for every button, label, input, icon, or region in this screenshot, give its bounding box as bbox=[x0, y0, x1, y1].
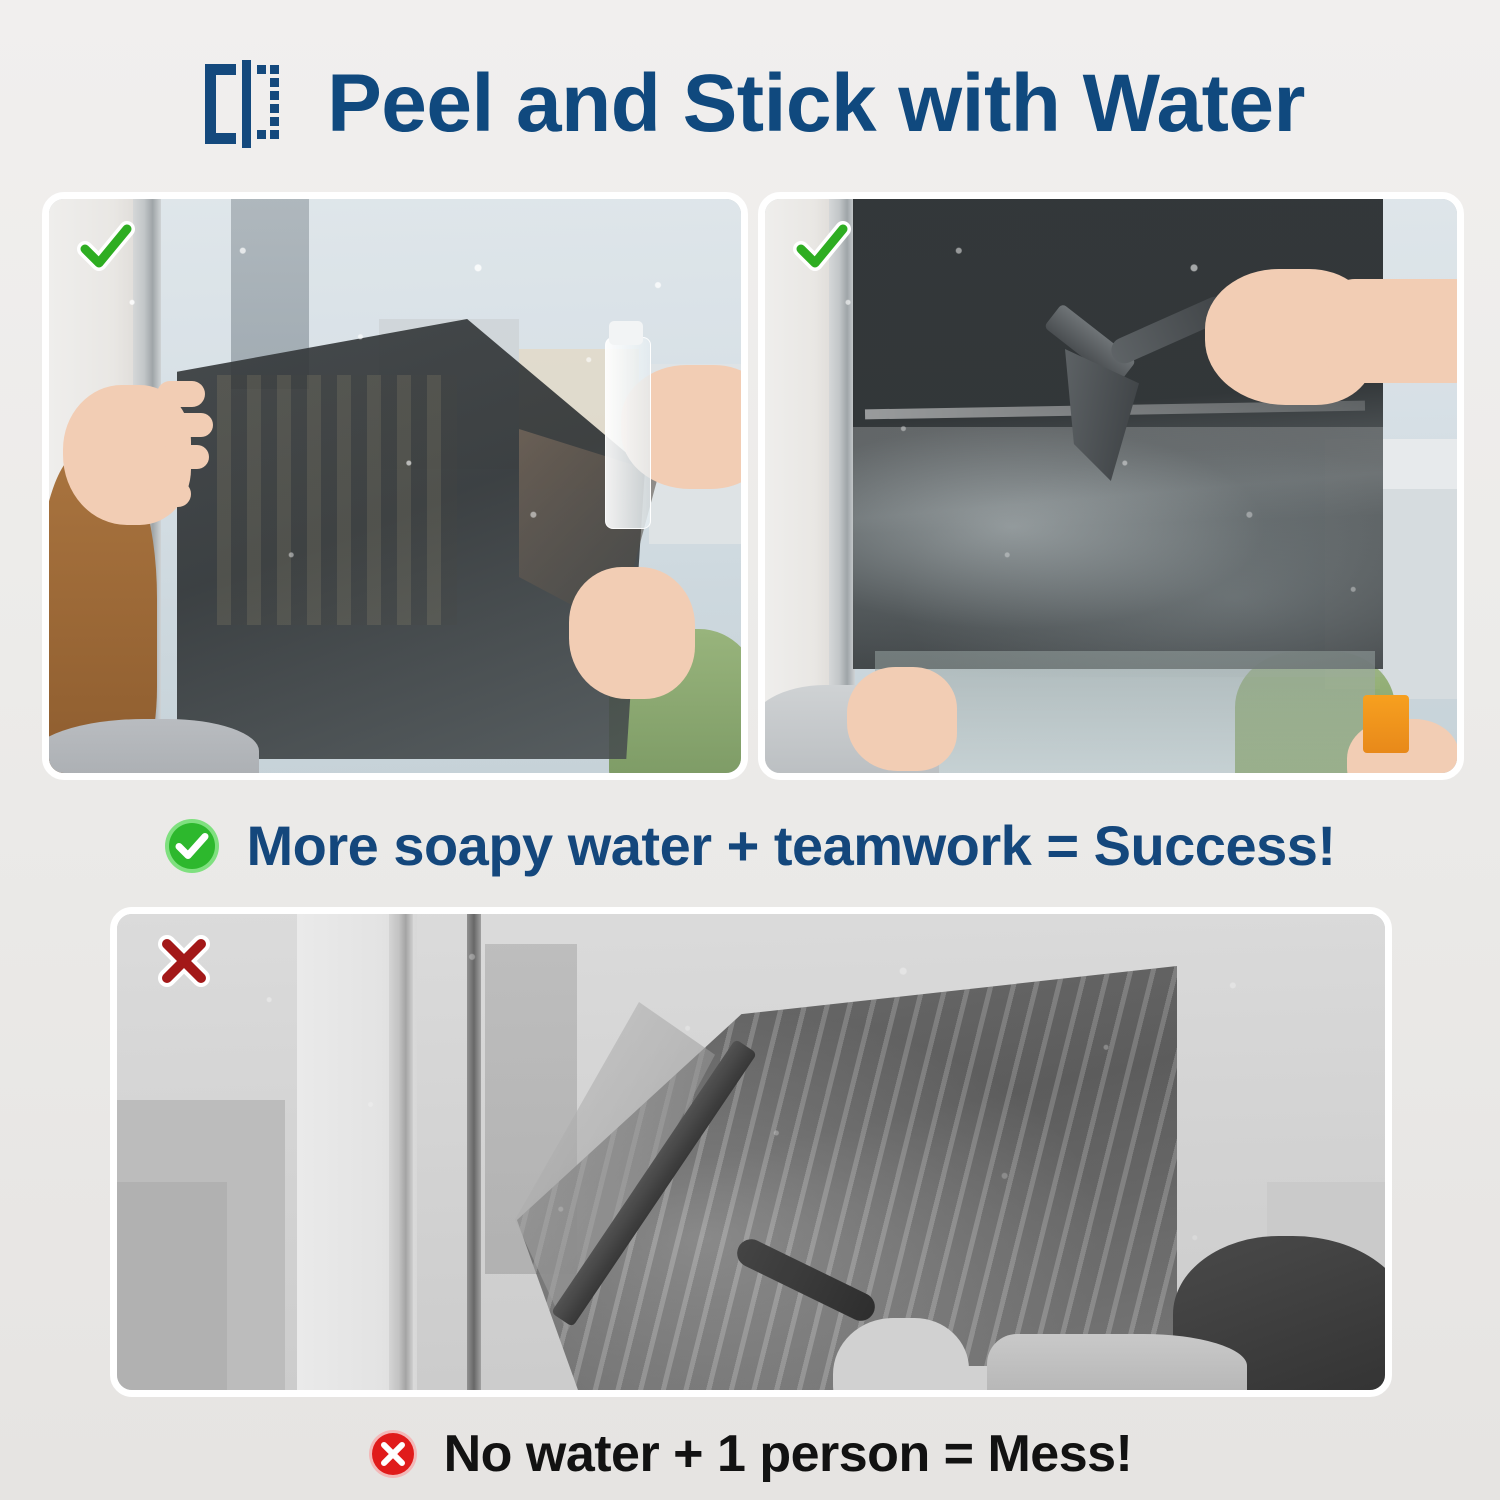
film-wet-ripples bbox=[853, 427, 1383, 677]
red-cross-mark bbox=[153, 930, 215, 992]
photo-panel-spray-water bbox=[42, 192, 748, 780]
hand-pulling-liner bbox=[569, 567, 695, 699]
person-sleeve bbox=[987, 1334, 1247, 1390]
forearm bbox=[1325, 279, 1457, 383]
green-check-mark bbox=[75, 217, 137, 279]
scene-no-water-mess bbox=[117, 914, 1385, 1390]
green-check-mark bbox=[791, 217, 853, 279]
thumb bbox=[147, 481, 191, 507]
spray-nozzle bbox=[609, 321, 643, 345]
finger bbox=[157, 381, 205, 407]
caption-fail-text: No water + 1 person = Mess! bbox=[444, 1428, 1133, 1480]
header: Peel and Stick with Water bbox=[0, 44, 1500, 164]
scene-spray-water bbox=[49, 199, 741, 773]
green-check-circle-badge bbox=[164, 818, 220, 874]
background-building bbox=[117, 1182, 227, 1390]
caption-fail: No water + 1 person = Mess! bbox=[0, 1412, 1500, 1496]
hand-holding-film-bottom bbox=[847, 667, 957, 771]
infographic-page: Peel and Stick with Water bbox=[0, 0, 1500, 1500]
window-frame bbox=[467, 914, 481, 1390]
photo-panel-squeegee-teamwork bbox=[758, 192, 1464, 780]
red-cross-circle-badge bbox=[368, 1429, 418, 1479]
orange-tab-label bbox=[1363, 695, 1409, 753]
caption-success: More soapy water + teamwork = Success! bbox=[0, 800, 1500, 892]
finger bbox=[161, 413, 213, 437]
photo-panel-no-water-mess bbox=[110, 907, 1392, 1397]
background-building bbox=[1380, 489, 1457, 699]
window-frame bbox=[389, 914, 413, 1390]
film-peel-icon bbox=[195, 58, 287, 150]
scene-squeegee-teamwork bbox=[765, 199, 1457, 773]
spray-bottle bbox=[605, 337, 651, 529]
film-reflection bbox=[217, 375, 457, 625]
page-title: Peel and Stick with Water bbox=[327, 63, 1305, 145]
finger bbox=[159, 445, 209, 469]
caption-success-text: More soapy water + teamwork = Success! bbox=[246, 818, 1335, 874]
woman-shirt bbox=[49, 719, 259, 773]
